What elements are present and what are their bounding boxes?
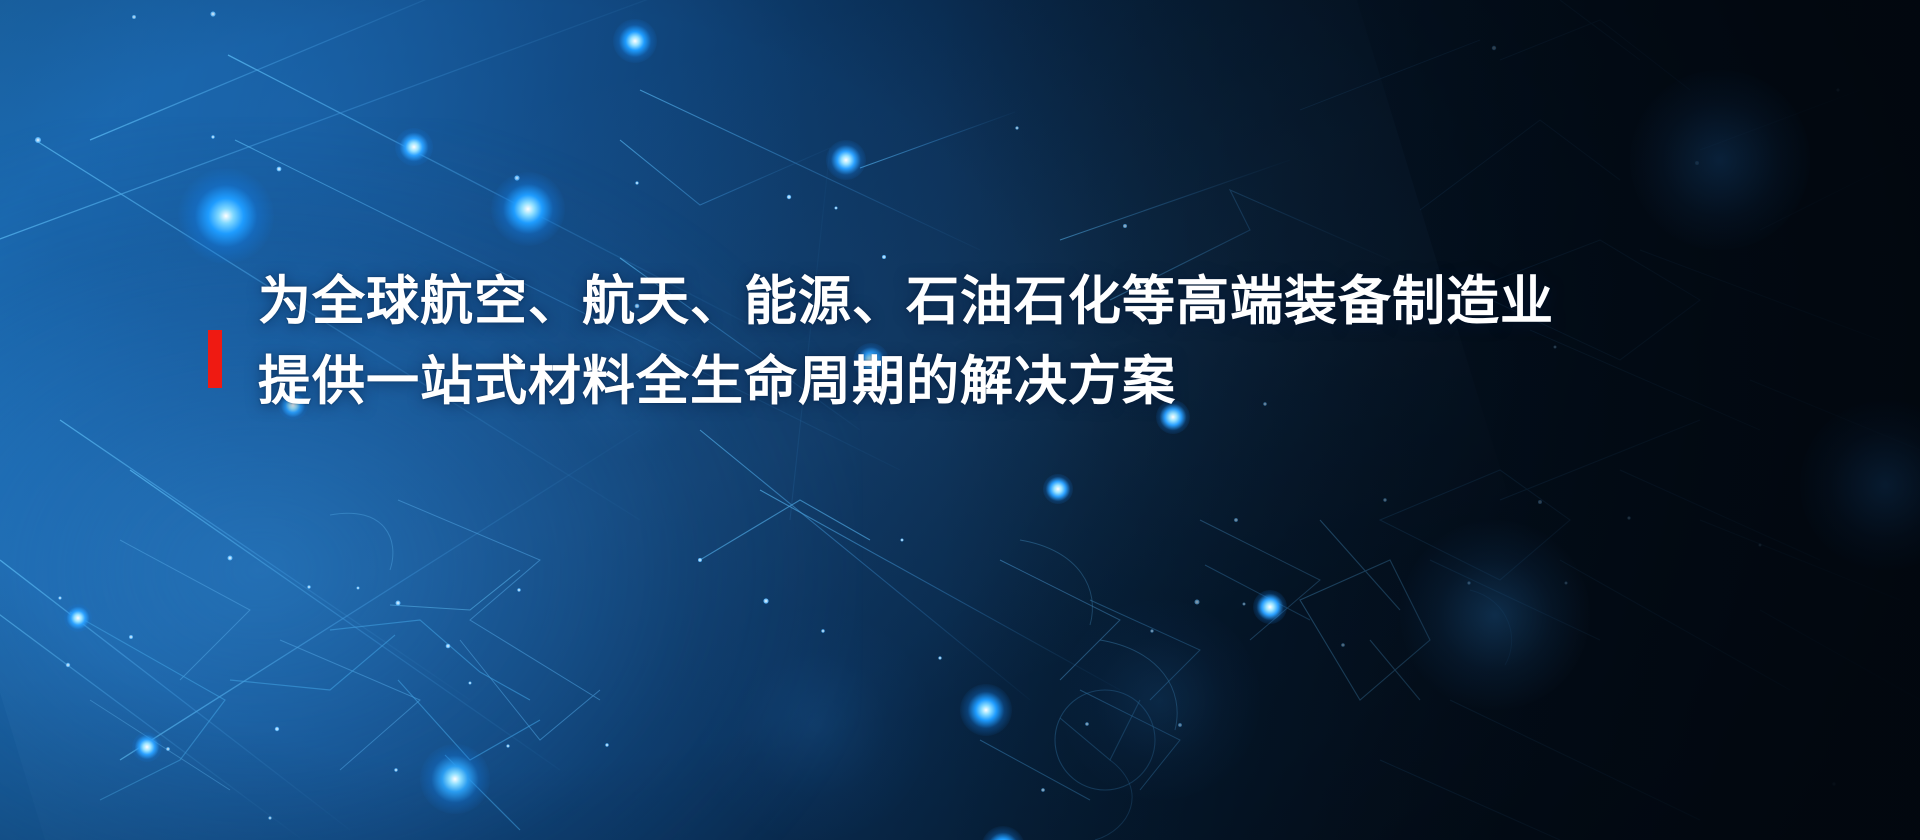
headline-line-2: 提供一站式材料全生命周期的解决方案 [258,342,1688,422]
page-title: 为全球航空、航天、能源、石油石化等高端装备制造业 提供一站式材料全生命周期的解决… [208,262,1688,422]
headline-line-1: 为全球航空、航天、能源、石油石化等高端装备制造业 [258,262,1688,342]
hero-banner: 为全球航空、航天、能源、石油石化等高端装备制造业 提供一站式材料全生命周期的解决… [0,0,1920,840]
headline-block: 为全球航空、航天、能源、石油石化等高端装备制造业 提供一站式材料全生命周期的解决… [208,262,1688,422]
red-accent-bar [208,330,222,388]
